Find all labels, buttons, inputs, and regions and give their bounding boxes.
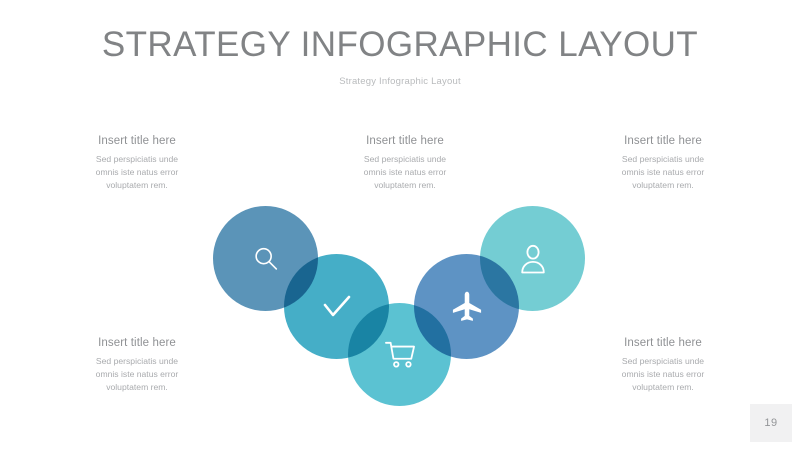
callout-block-5: Insert title here Sed perspiciatis unde …	[573, 337, 753, 395]
callout-body: Sed perspiciatis unde omnis iste natus e…	[573, 153, 753, 193]
callout-body-line: voluptatem rem.	[47, 381, 227, 394]
callout-body: Sed perspiciatis unde omnis iste natus e…	[47, 355, 227, 395]
callout-body-line: Sed perspiciatis unde	[47, 153, 227, 166]
callout-body-line: voluptatem rem.	[47, 179, 227, 192]
callout-body-line: voluptatem rem.	[573, 381, 753, 394]
search-icon	[251, 244, 281, 274]
callout-body-line: voluptatem rem.	[573, 179, 753, 192]
circle-node-5[interactable]	[480, 206, 585, 311]
callout-body-line: omnis iste natus error	[573, 166, 753, 179]
person-icon	[519, 243, 547, 275]
callout-title: Insert title here	[47, 337, 227, 349]
callout-body-line: omnis iste natus error	[47, 368, 227, 381]
callout-body-line: omnis iste natus error	[315, 166, 495, 179]
callout-title: Insert title here	[315, 135, 495, 147]
callout-block-2: Insert title here Sed perspiciatis unde …	[315, 135, 495, 193]
callout-body-line: voluptatem rem.	[315, 179, 495, 192]
callout-title: Insert title here	[47, 135, 227, 147]
page-number: 19	[764, 417, 777, 429]
callout-title: Insert title here	[573, 135, 753, 147]
callout-title: Insert title here	[573, 337, 753, 349]
callout-body: Sed perspiciatis unde omnis iste natus e…	[573, 355, 753, 395]
page-number-badge: 19	[750, 404, 792, 442]
callout-body-line: Sed perspiciatis unde	[573, 153, 753, 166]
airplane-icon	[450, 290, 484, 324]
callout-body: Sed perspiciatis unde omnis iste natus e…	[315, 153, 495, 193]
callout-body-line: omnis iste natus error	[573, 368, 753, 381]
callout-body-line: Sed perspiciatis unde	[573, 355, 753, 368]
cart-icon	[384, 340, 416, 370]
callout-block-1: Insert title here Sed perspiciatis unde …	[47, 135, 227, 193]
callout-block-4: Insert title here Sed perspiciatis unde …	[47, 337, 227, 395]
callout-body-line: Sed perspiciatis unde	[47, 355, 227, 368]
callout-body-line: omnis iste natus error	[47, 166, 227, 179]
callout-block-3: Insert title here Sed perspiciatis unde …	[573, 135, 753, 193]
callout-body-line: Sed perspiciatis unde	[315, 153, 495, 166]
callout-body: Sed perspiciatis unde omnis iste natus e…	[47, 153, 227, 193]
check-icon	[320, 290, 354, 324]
slide-canvas: STRATEGY INFOGRAPHIC LAYOUT Strategy Inf…	[0, 0, 800, 450]
